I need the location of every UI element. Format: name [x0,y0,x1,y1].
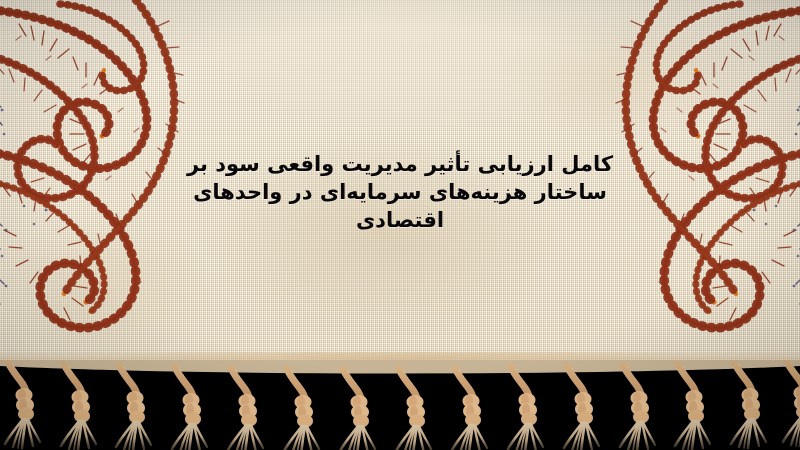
title-line-3: اقتصادی [0,206,800,234]
tassel-fringe [0,360,800,450]
slide-title: کامل ارزیابی تأثیر مدیریت واقعی سود بر س… [0,150,800,234]
title-line-1: کامل ارزیابی تأثیر مدیریت واقعی سود بر [0,150,800,178]
slide-canvas: کامل ارزیابی تأثیر مدیریت واقعی سود بر س… [0,0,800,450]
title-line-2: ساختار هزینه‌های سرمایه‌ای در واحدهای [0,178,800,206]
